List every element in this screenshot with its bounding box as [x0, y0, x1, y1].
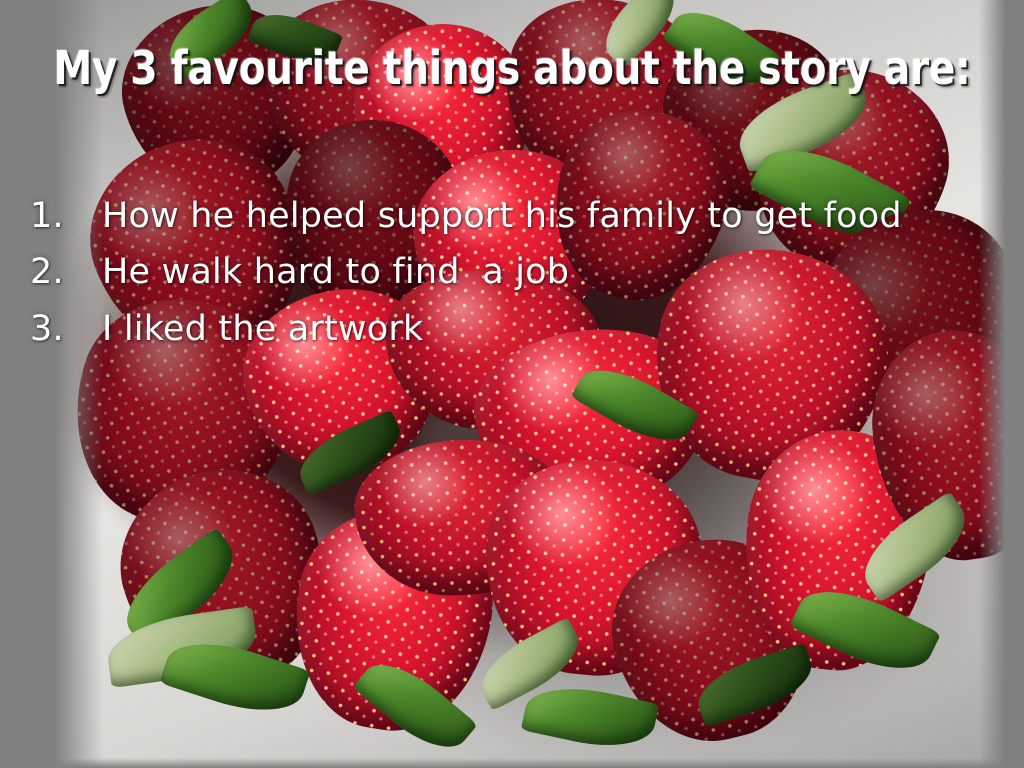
list-item: 1. How he helped support his family to g… — [30, 196, 1010, 237]
list-item-number: 3. — [30, 309, 102, 350]
list-item: 2. He walk hard to find a job — [30, 252, 1010, 293]
slide-canvas: My 3 favourite things about the story ar… — [0, 0, 1024, 768]
list-item: 3. I liked the artwork — [30, 309, 1010, 350]
list-item-number: 1. — [30, 196, 102, 237]
list-item-text: How he helped support his family to get … — [102, 196, 902, 237]
page-title: My 3 favourite things about the story ar… — [31, 44, 994, 92]
list-item-number: 2. — [30, 252, 102, 293]
list-item-text: He walk hard to find a job — [102, 252, 569, 293]
slide-text-layer: My 3 favourite things about the story ar… — [0, 0, 1024, 768]
favourites-list: 1. How he helped support his family to g… — [30, 196, 1010, 365]
list-item-text: I liked the artwork — [102, 309, 423, 350]
